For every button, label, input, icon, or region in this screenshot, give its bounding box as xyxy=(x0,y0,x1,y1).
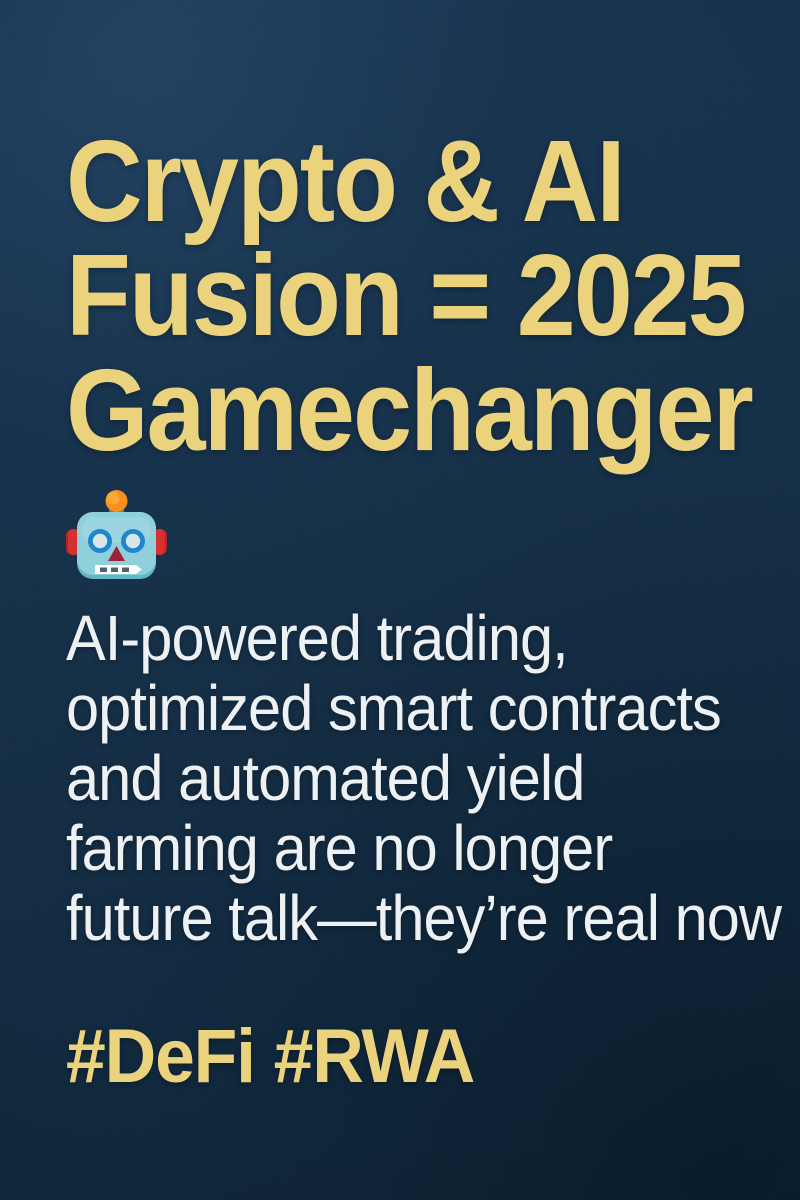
headline-line-1: Crypto & AI xyxy=(66,124,738,238)
emoji-row xyxy=(66,489,800,581)
hashtags: #DeFi #RWA xyxy=(66,953,756,1095)
body-copy: AI-powered trading, optimized smart cont… xyxy=(66,581,749,953)
headline-line-3: Gamechanger xyxy=(66,353,738,467)
body-line-1: AI-powered trading, xyxy=(66,603,749,673)
headline-line-2: Fusion = 2025 xyxy=(66,238,738,352)
body-line-4: farming are no longer xyxy=(66,813,749,883)
robot-face-icon xyxy=(66,489,167,581)
body-line-3: and automated yield xyxy=(66,743,749,813)
social-poster: Crypto & AI Fusion = 2025 Gamechanger xyxy=(0,0,800,1200)
headline: Crypto & AI Fusion = 2025 Gamechanger xyxy=(66,0,738,467)
body-line-2: optimized smart contracts xyxy=(66,673,749,743)
poster-content: Crypto & AI Fusion = 2025 Gamechanger xyxy=(0,0,800,1095)
body-line-5: future talk—they’re real now xyxy=(66,883,749,953)
